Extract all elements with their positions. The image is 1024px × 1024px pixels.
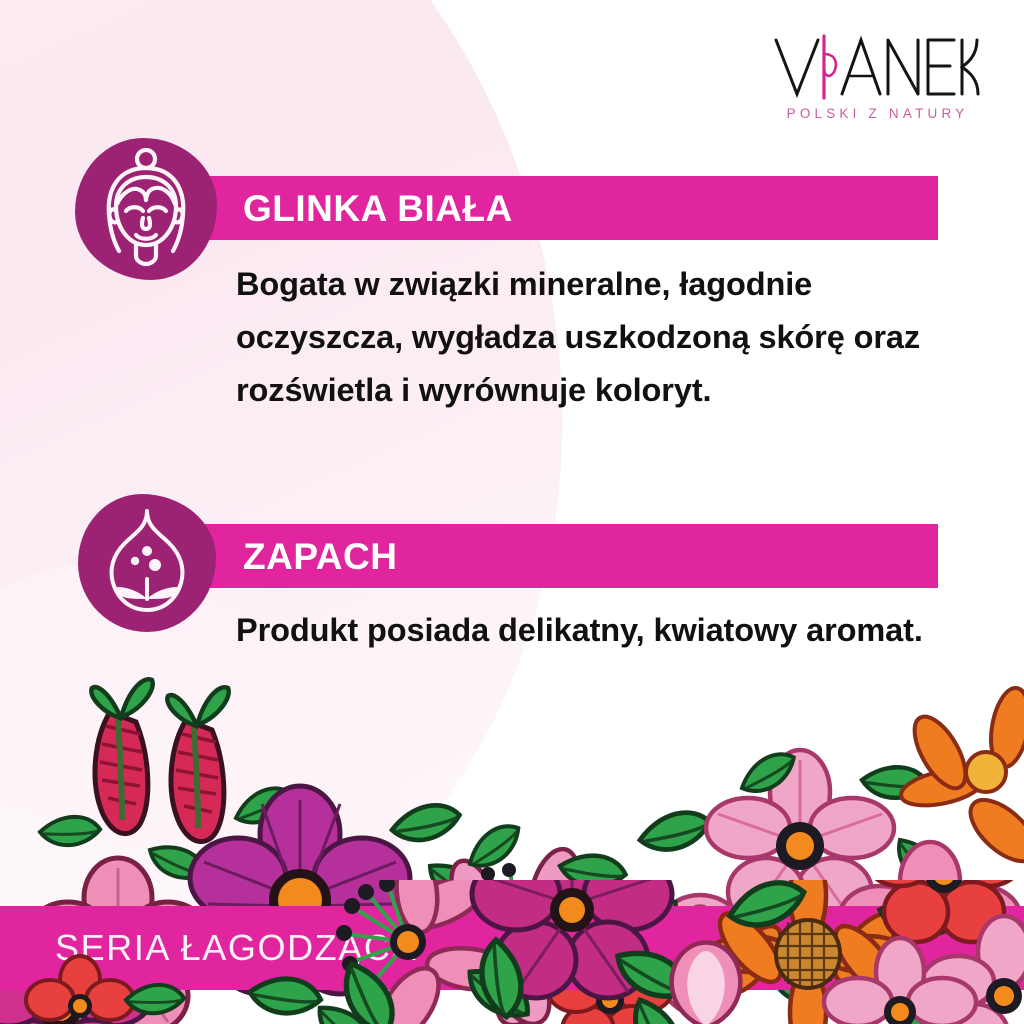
logo-wordmark bbox=[770, 34, 982, 100]
feature-description-fragrance: Produkt posiada delikatny, kwiatowy arom… bbox=[236, 604, 926, 657]
logo-tagline: POLSKI Z NATURY bbox=[770, 106, 982, 121]
feature-description-clay: Bogata w związki mineralne, łagodnie ocz… bbox=[236, 258, 926, 417]
droplet-leaf-glyph bbox=[95, 507, 199, 619]
feature-title-banner-fragrance: ZAPACH bbox=[185, 524, 938, 588]
series-label: SERIA ŁAGODZĄCA bbox=[55, 927, 417, 969]
vianek-logo-icon bbox=[772, 34, 980, 100]
series-banner: SERIA ŁAGODZĄCA bbox=[0, 906, 1024, 990]
brand-logo: POLSKI Z NATURY bbox=[770, 34, 982, 121]
product-info-poster: POLSKI Z NATURY bbox=[0, 0, 1024, 1024]
fragrance-droplet-leaf-icon bbox=[78, 494, 216, 632]
woman-face-glyph bbox=[92, 148, 200, 270]
feature-title-fragrance: ZAPACH bbox=[243, 538, 397, 575]
woman-face-icon bbox=[75, 138, 217, 280]
feature-title-clay: GLINKA BIAŁA bbox=[243, 190, 513, 227]
feature-title-banner-clay: GLINKA BIAŁA bbox=[185, 176, 938, 240]
